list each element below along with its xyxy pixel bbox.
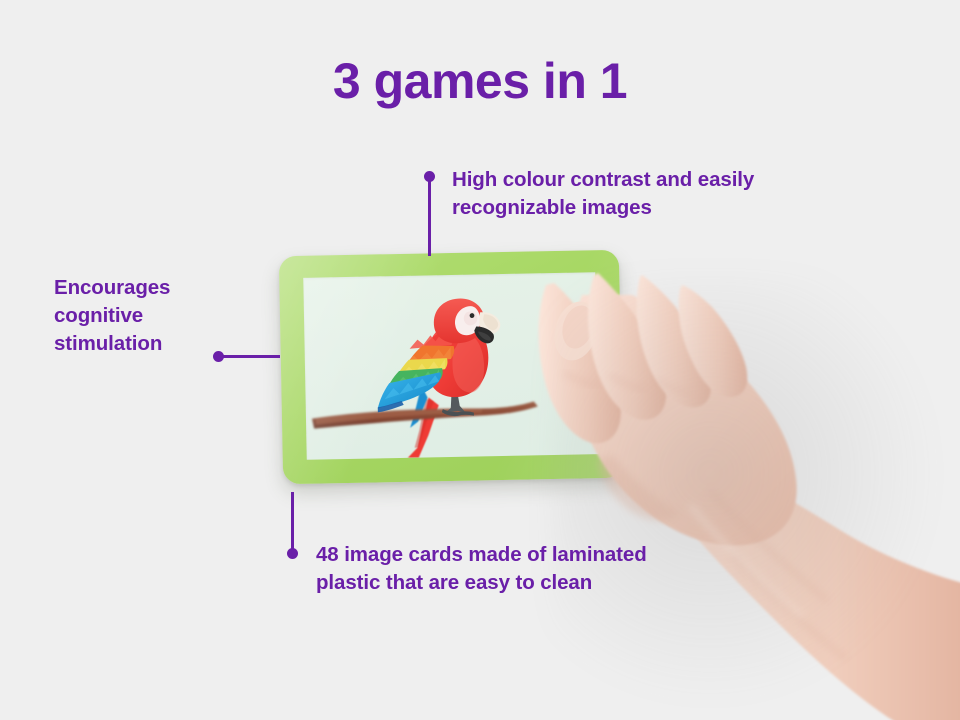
callout-text-cognitive-stimulation: Encourages cognitive stimulation: [54, 274, 224, 358]
connector-line-top: [428, 178, 431, 256]
connector-dot-bottom: [287, 548, 298, 559]
promo-image-canvas: 3 games in 1: [0, 0, 960, 720]
callout-text-high-contrast: High colour contrast and easily recogniz…: [452, 166, 872, 222]
page-title: 3 games in 1: [0, 54, 960, 109]
callout-text-48-cards: 48 image cards made of laminated plastic…: [316, 541, 666, 597]
hand-shadow: [550, 275, 950, 715]
hand-holding-card: [520, 255, 960, 720]
connector-line-left: [220, 355, 280, 358]
connector-line-bottom: [291, 492, 294, 552]
connector-dot-top: [424, 171, 435, 182]
